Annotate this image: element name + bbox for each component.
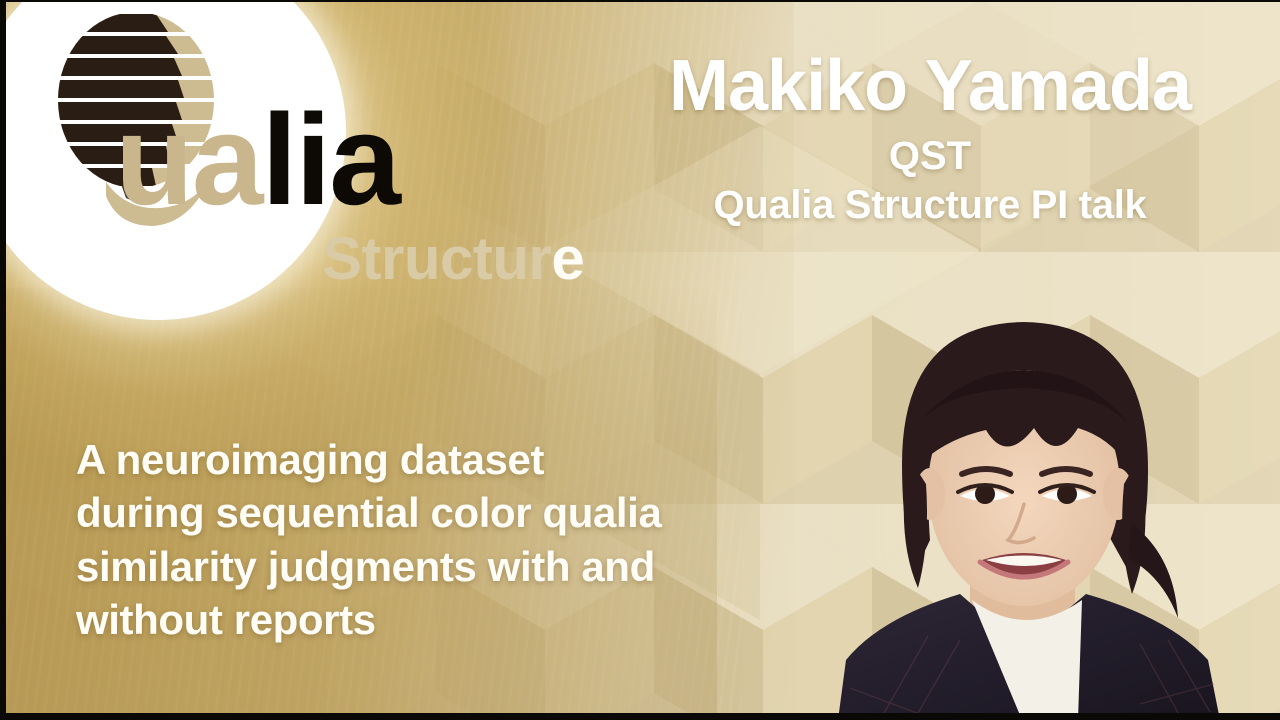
talk-series: Qualia Structure PI talk (600, 183, 1260, 227)
talk-title-line: similarity judgments with and (76, 540, 836, 593)
talk-title: A neuroimaging dataset during sequential… (76, 433, 836, 646)
talk-title-line: during sequential color qualia (76, 486, 836, 539)
talk-title-line: A neuroimaging dataset (76, 433, 836, 486)
speaker-title-block: Makiko Yamada QST Qualia Structure PI ta… (600, 50, 1260, 227)
speaker-name: Makiko Yamada (600, 50, 1260, 123)
speaker-affiliation: QST (600, 135, 1260, 177)
logo-wordmark: ualia (115, 96, 399, 225)
video-title-card: ualia Structure Makiko Yamada QST Qualia… (0, 0, 1280, 720)
logo-wordmark-suffix: lia (262, 88, 399, 232)
logo-subwordmark-suffix: e (551, 225, 584, 292)
qualia-structure-logo: ualia Structure (0, 0, 560, 330)
logo-subwordmark: Structure (322, 229, 584, 289)
logo-subwordmark-prefix: Structur (322, 225, 551, 292)
logo-wordmark-prefix: ua (115, 88, 262, 232)
talk-title-line: without reports (76, 593, 836, 646)
speaker-portrait (810, 288, 1280, 720)
